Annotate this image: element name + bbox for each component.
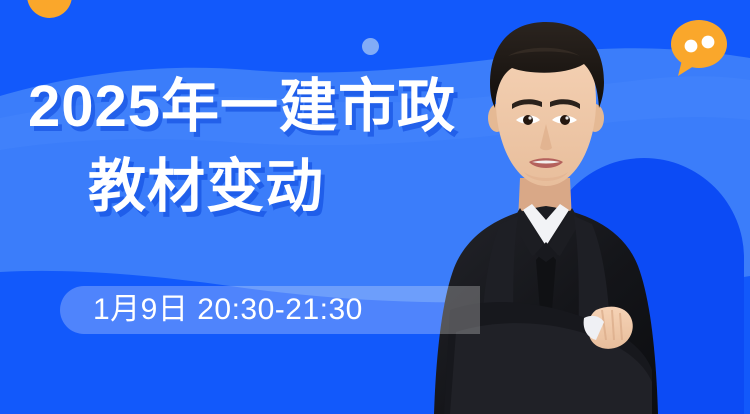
small-blue-circle-icon <box>362 38 379 55</box>
headline-line-1: 2025年一建市政 <box>28 78 540 136</box>
headline-group: 2025年一建市政 教材变动 <box>0 78 540 216</box>
promo-poster: 2025年一建市政 教材变动 1月9日 20:30-21:30 <box>0 0 750 414</box>
schedule-text: 1月9日 20:30-21:30 <box>93 286 363 334</box>
headline-line-2: 教材变动 <box>88 158 540 216</box>
